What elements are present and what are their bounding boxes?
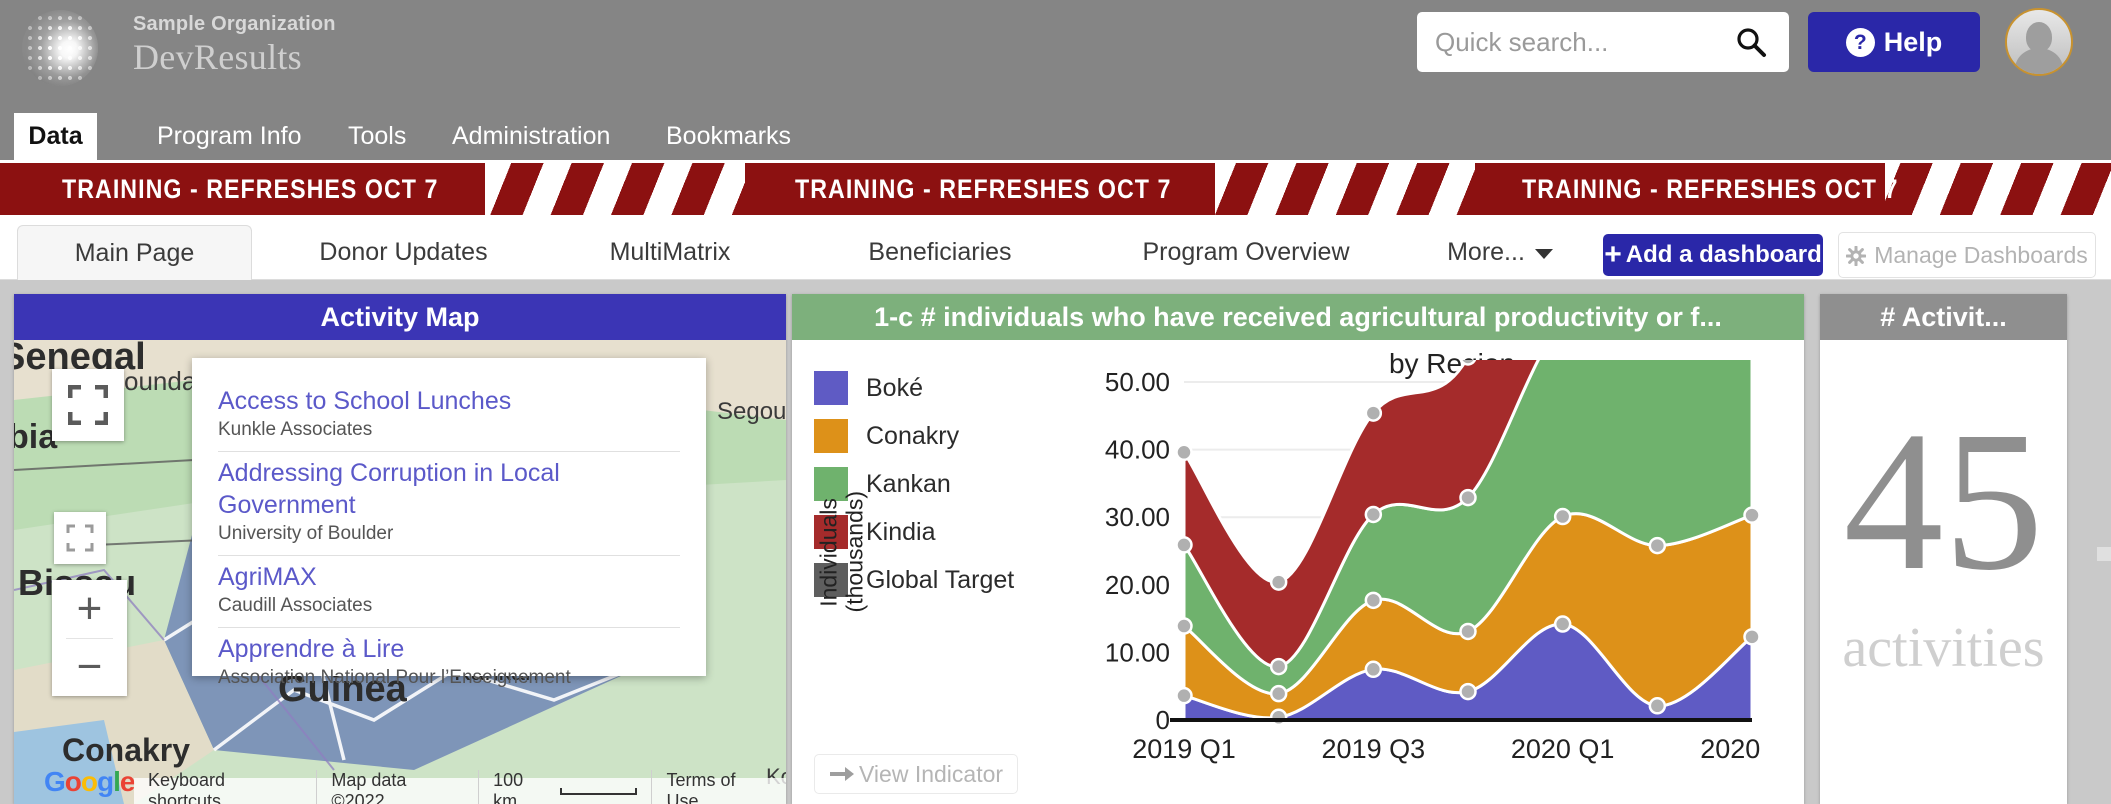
manage-dashboards-button[interactable]: Manage Dashboards [1838, 232, 2096, 278]
chart-widget-title: 1-c # individuals who have received agri… [792, 294, 1804, 340]
add-dashboard-label: Add a dashboard [1626, 241, 1822, 269]
tab-label: Program Overview [1143, 238, 1350, 267]
svg-text:50.00: 50.00 [1105, 367, 1170, 397]
y-axis-label-line2: (thousands) [842, 491, 868, 612]
keyboard-shortcuts-link[interactable]: Keyboard shortcuts [134, 770, 317, 804]
training-banner: TRAINING - REFRESHES OCT 7 TRAINING - RE… [0, 163, 2111, 215]
list-item[interactable]: AgriMAX Caudill Associates [218, 556, 680, 628]
chart-areas [1184, 360, 1752, 720]
fullscreen-icon[interactable] [52, 369, 124, 441]
svg-text:2019 Q3: 2019 Q3 [1322, 734, 1426, 764]
zoom-out-button[interactable]: − [52, 638, 127, 696]
svg-text:0: 0 [1156, 705, 1170, 735]
legend-swatch-conakry [814, 419, 848, 453]
indicator-chart-widget: 1-c # individuals who have received agri… [792, 294, 1804, 804]
add-dashboard-button[interactable]: + Add a dashboard [1603, 234, 1823, 276]
organization-logo-icon [22, 10, 98, 86]
map-activity-popup: Access to School Lunches Kunkle Associat… [192, 358, 706, 676]
svg-text:2020 Q3: 2020 Q3 [1700, 734, 1764, 764]
tab-label: Main Page [75, 239, 195, 268]
logo-shading [22, 10, 98, 86]
map-label-segou: Segou [717, 398, 786, 426]
tab-label: MultiMatrix [610, 238, 731, 267]
scale-bar-icon [560, 788, 638, 795]
list-item[interactable]: Apprendre à Lire Association National Po… [218, 628, 680, 699]
quick-search-box[interactable] [1417, 12, 1789, 72]
legend-label: Global Target [866, 566, 1014, 595]
nav-label: Program Info [157, 122, 302, 151]
tab-more[interactable]: More... [1425, 225, 1575, 280]
top-bar: Sample Organization DevResults ? Help [0, 0, 2111, 113]
map-canvas[interactable]: Senegal ounda bia Segou Bissau Guinea Ka… [14, 340, 786, 804]
zoom-divider [66, 638, 113, 639]
arrow-right-icon [829, 761, 855, 788]
organization-name: Sample Organization [133, 13, 336, 36]
nav-label: Tools [348, 122, 406, 151]
stacked-area-plot[interactable]: 010.0020.0030.0040.0050.00 2019 Q12019 Q… [1084, 360, 1764, 790]
dashboard-stage: Activity Map [0, 280, 2111, 804]
count-body: 45 activities [1820, 340, 2067, 804]
tab-label: Beneficiaries [868, 238, 1011, 267]
map-label-bia: bia [14, 418, 57, 457]
activity-link[interactable]: Access to School Lunches [218, 386, 680, 417]
search-icon[interactable] [1735, 26, 1767, 58]
legend-item[interactable]: Boké [814, 364, 1014, 412]
tab-label: More... [1447, 238, 1525, 267]
nav-item-program-info[interactable]: Program Info [139, 113, 320, 160]
tab-donor-updates[interactable]: Donor Updates [281, 225, 526, 280]
map-data-credit: Map data ©2022 [317, 770, 479, 804]
tab-program-overview[interactable]: Program Overview [1096, 225, 1396, 280]
nav-label: Administration [452, 122, 610, 151]
activity-organization: Association National Pour l’Enseignement [218, 667, 680, 689]
svg-text:2019 Q1: 2019 Q1 [1132, 734, 1236, 764]
nav-label: Bookmarks [666, 122, 791, 151]
chart-x-tick-labels: 2019 Q12019 Q32020 Q12020 Q3 [1132, 734, 1764, 764]
map-widget-title: Activity Map [14, 294, 786, 340]
svg-text:40.00: 40.00 [1105, 435, 1170, 465]
nav-item-administration[interactable]: Administration [434, 113, 628, 160]
activity-map-widget: Activity Map [14, 294, 786, 804]
activity-count-unit: activities [1820, 620, 2067, 676]
tab-main-page[interactable]: Main Page [17, 225, 252, 280]
map-label-conakry: Conakry [62, 732, 190, 769]
chevron-down-icon [1535, 238, 1553, 267]
banner-text: TRAINING - REFRESHES OCT 7 [1522, 174, 1898, 205]
activity-organization: Kunkle Associates [218, 419, 680, 441]
legend-label: Kankan [866, 470, 951, 499]
nav-item-data[interactable]: Data [14, 113, 97, 160]
activity-count-value: 45 [1820, 402, 2067, 602]
gear-icon [1846, 245, 1866, 265]
chart-y-tick-labels: 010.0020.0030.0040.0050.00 [1105, 367, 1170, 735]
plus-icon: + [1604, 240, 1622, 270]
y-axis-label-line1: Individuals [816, 498, 842, 607]
manage-dashboards-label: Manage Dashboards [1874, 242, 2088, 269]
map-label-ounda: ounda [124, 366, 196, 397]
tab-beneficiaries[interactable]: Beneficiaries [815, 225, 1065, 280]
banner-text: TRAINING - REFRESHES OCT 7 [62, 174, 438, 205]
chart-body: by Region Boké Conakry Kankan Kindia [792, 340, 1804, 804]
tab-multimatrix[interactable]: MultiMatrix [555, 225, 785, 280]
rectangle-select-icon[interactable] [54, 512, 106, 564]
map-scale-label: 100 km [493, 770, 552, 804]
question-mark-icon: ? [1846, 28, 1875, 57]
legend-label: Boké [866, 374, 923, 403]
activity-link[interactable]: AgriMAX [218, 562, 680, 593]
map-zoom-controls: + − [52, 580, 127, 696]
legend-item[interactable]: Conakry [814, 412, 1014, 460]
svg-text:20.00: 20.00 [1105, 570, 1170, 600]
zoom-in-button[interactable]: + [52, 580, 127, 638]
count-widget-title: # Activit... [1820, 294, 2067, 340]
activity-link[interactable]: Apprendre à Lire [218, 634, 680, 665]
nav-item-bookmarks[interactable]: Bookmarks [648, 113, 809, 160]
terms-of-use-link[interactable]: Terms of Use [652, 770, 786, 804]
map-attribution-bar: Keyboard shortcuts Map data ©2022 100 km… [134, 778, 786, 804]
list-item[interactable]: Access to School Lunches Kunkle Associat… [218, 380, 680, 452]
tab-label: Donor Updates [319, 238, 487, 267]
avatar[interactable] [2005, 8, 2073, 76]
main-navigation: Data Program Info Tools Administration B… [0, 113, 2111, 160]
activity-organization: University of Boulder [218, 523, 680, 545]
legend-label: Kindia [866, 518, 936, 547]
map-scale: 100 km [479, 770, 652, 804]
list-item[interactable]: Addressing Corruption in Local Governmen… [218, 452, 680, 556]
legend-label: Conakry [866, 422, 959, 451]
search-input[interactable] [1435, 12, 1735, 72]
help-label: Help [1884, 27, 1943, 58]
svg-text:2020 Q1: 2020 Q1 [1511, 734, 1615, 764]
legend-swatch-boke [814, 371, 848, 405]
activity-link[interactable]: Addressing Corruption in Local Governmen… [218, 458, 680, 521]
help-button[interactable]: ? Help [1808, 12, 1980, 72]
view-indicator-label: View Indicator [859, 761, 1003, 788]
svg-text:10.00: 10.00 [1105, 637, 1170, 667]
svg-text:30.00: 30.00 [1105, 502, 1170, 532]
app-title: DevResults [133, 36, 302, 78]
view-indicator-button[interactable]: View Indicator [814, 754, 1018, 794]
google-logo: Google [44, 766, 134, 798]
banner-text: TRAINING - REFRESHES OCT 7 [795, 174, 1171, 205]
activity-count-widget: # Activit... 45 activities [1820, 294, 2067, 804]
scrollbar-corner[interactable] [2097, 547, 2111, 561]
nav-label: Data [28, 122, 82, 151]
activity-organization: Caudill Associates [218, 595, 680, 617]
avatar-body [2015, 48, 2063, 76]
nav-item-tools[interactable]: Tools [330, 113, 424, 160]
